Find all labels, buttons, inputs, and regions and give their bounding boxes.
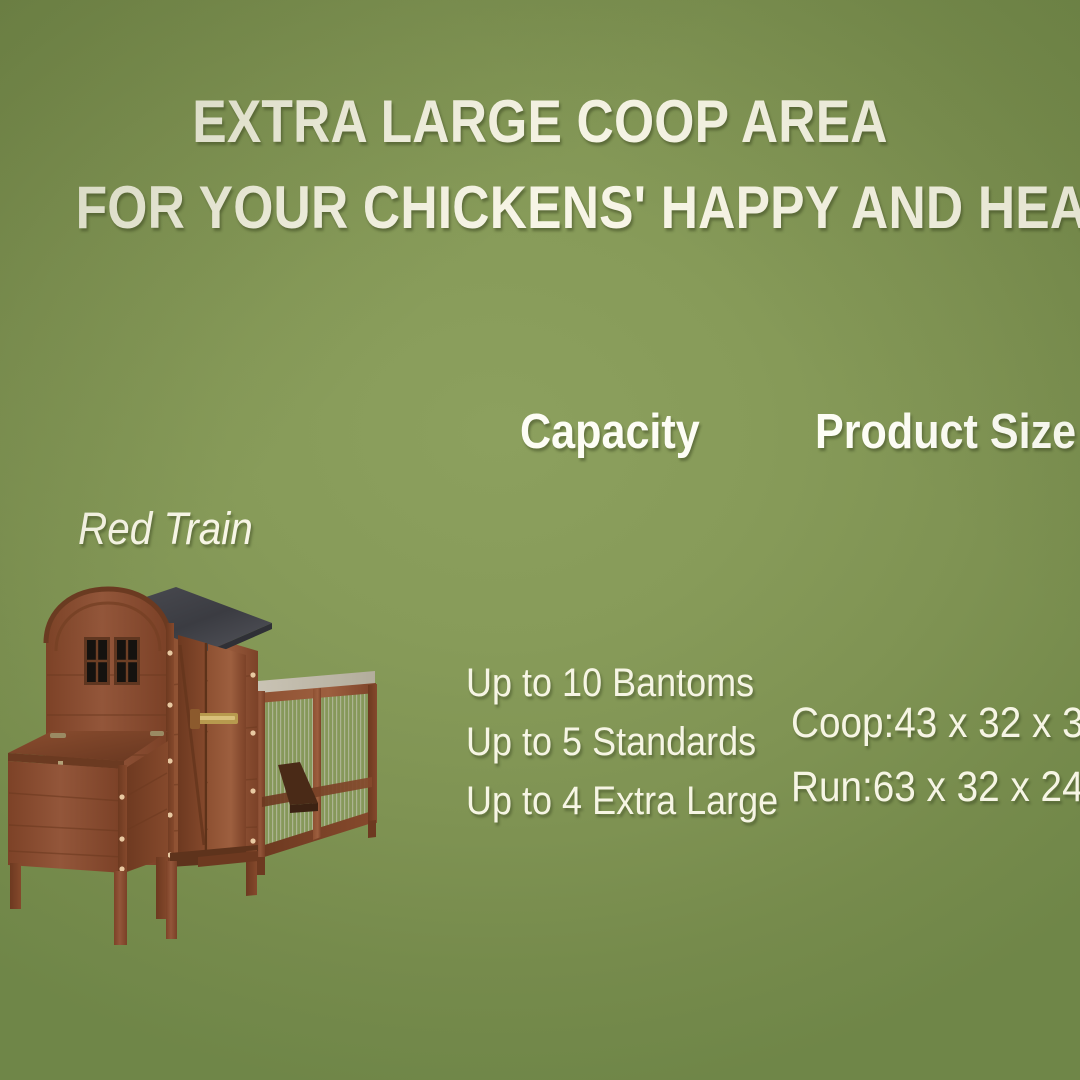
product-infographic-poster: EXTRA LARGE COOP AREA FOR YOUR CHICKENS'… [0,0,1080,1080]
product-image-chicken-coop [0,565,440,970]
capacity-column-heading: Capacity [520,404,700,460]
product-size-list-item: Coop:43 x 32 x 36 in [791,692,1080,756]
capacity-list-item: Up to 10 Bantoms [466,654,778,713]
coop-run-enclosure [256,671,377,875]
headline-line-1: EXTRA LARGE COOP AREA [76,92,1005,152]
headline-line-2: FOR YOUR CHICKENS' HAPPY AND HEALTHY LIF… [76,178,1005,238]
coop-window [84,637,110,685]
capacity-list: Up to 10 Bantoms Up to 5 Standards Up to… [466,654,813,830]
product-size-column-heading: Product Size [815,404,1076,460]
chicken-coop-illustration [0,565,440,970]
product-size-list-item: Run:63 x 32 x 24 in [791,756,1080,820]
product-size-list: Coop:43 x 32 x 36 in Run:63 x 32 x 24 in [791,692,1080,819]
coop-window [114,637,140,685]
capacity-list-item: Up to 4 Extra Large [466,772,778,831]
coop-door [178,635,246,857]
capacity-list-item: Up to 5 Standards [466,713,778,772]
product-name-label: Red Train [78,503,253,555]
